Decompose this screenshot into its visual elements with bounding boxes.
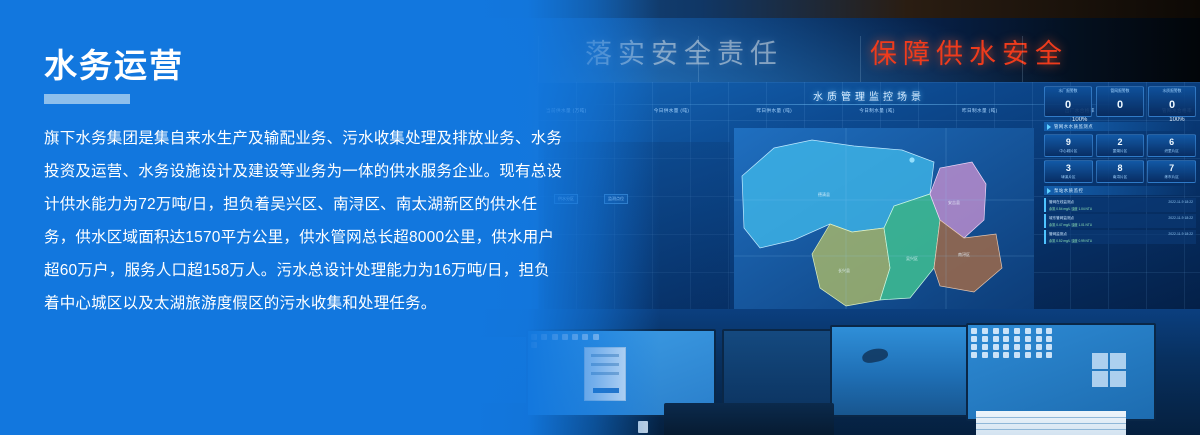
dashboard-right-rail: 水厂报警数 0 管网报警数 0 水质报警数 0 [1044,86,1196,314]
desktop-icon[interactable] [971,352,977,358]
slogan-right: 保障供水安全 [870,32,1068,71]
monitor-point-label: 中心城片区 [1045,149,1092,154]
alarm-card-value: 0 [1117,99,1123,111]
log-row-top: 管网监测点 2022-11-9 18:22 [1049,232,1193,237]
spreadsheet-line [976,417,1126,418]
alarm-card-value: 0 [1065,99,1071,111]
desktop-icon[interactable] [1003,344,1009,350]
map-label-wuxing: 吴兴区 [906,256,918,262]
monitor-underwater [830,325,975,417]
map-label-changxing: 德清县 [818,192,830,198]
diver-silhouette [861,346,889,364]
alarm-card[interactable]: 水质报警数 0 [1148,86,1196,117]
log-row-top: 城东管网监测点 2022-11-9 18:22 [1049,216,1193,221]
log-row-values: 余氯 0.52 mg/L 浊度 0.99 NTU [1049,238,1193,243]
desktop-icon[interactable] [1003,336,1009,342]
desktop-icon[interactable] [1025,344,1031,350]
monitor-panel-header: 管网水水质监测点 [1044,122,1196,131]
desktop-icon[interactable] [1046,344,1052,350]
monitor-point-label: 织里片区 [1148,149,1195,154]
monitor-point-cell[interactable]: 2 菱湖片区 [1096,134,1145,157]
log-row-time: 2022-11-9 18:22 [1168,232,1193,237]
desktop-icon[interactable] [982,336,988,342]
monitor-point-label: 南浔片区 [1097,175,1144,180]
monitor-point-label: 练市片区 [1148,175,1195,180]
monitor-point-label: 菱湖片区 [1097,149,1144,154]
windows-logo-icon [1092,353,1126,387]
monitor-point-cell[interactable]: 8 南浔片区 [1096,160,1145,183]
map-label-nanxun: 南浔区 [958,252,970,258]
log-panel-header: 泵站水质监控 [1044,186,1196,195]
monitor-dark [722,329,832,413]
desktop-icon[interactable] [982,344,988,350]
monitor-point-cell[interactable]: 6 织里片区 [1147,134,1196,157]
alarm-card-row: 水厂报警数 0 管网报警数 0 水质报警数 0 [1044,86,1196,117]
monitor-point-value: 3 [1045,164,1092,173]
desktop-icon[interactable] [971,344,977,350]
alarm-card-label: 水厂报警数 [1045,89,1091,94]
body-paragraph: 旗下水务集团是集自来水生产及输配业务、污水收集处理及排放业务、水务投资及运营、水… [44,122,564,320]
desktop-icon[interactable] [1014,336,1020,342]
spreadsheet-line [976,423,1126,424]
desktop-icon-grid [971,328,1055,358]
desktop-icon[interactable] [971,328,977,334]
desktop-icon[interactable] [1036,336,1042,342]
monitor-point-value: 6 [1148,138,1195,147]
desktop-icon[interactable] [1014,352,1020,358]
monitor-point-cell[interactable]: 7 练市片区 [1147,160,1196,183]
desktop-icon[interactable] [993,344,999,350]
desktop-icon[interactable] [982,352,988,358]
kpi-item: 昨日制水量 (吨) [962,108,998,117]
windows-logo-pane [1092,371,1108,387]
desktop-icon[interactable] [1014,344,1020,350]
log-row[interactable]: 管网在线监测点 2022-11-9 18:22 余氯 0.54 mg/L 浊度 … [1044,198,1196,212]
desktop-icon[interactable] [993,336,999,342]
district-map-svg [734,128,1034,318]
log-list: 管网在线监测点 2022-11-9 18:22 余氯 0.54 mg/L 浊度 … [1044,198,1196,244]
desktop-icon[interactable] [1003,328,1009,334]
desktop-icon[interactable] [971,336,977,342]
desktop-icon[interactable] [993,352,999,358]
monitor-desktop-right [966,323,1156,421]
monitor-point-value: 9 [1045,138,1092,147]
log-panel-title: 泵站水质监控 [1054,188,1083,194]
log-row-time: 2022-11-9 18:22 [1168,216,1193,221]
monitor-point-grid: 9 中心城片区 2 菱湖片区 6 织里片区 3 [1044,134,1196,183]
keyboard[interactable] [664,403,834,435]
water-operations-banner: 落实安全责任 保障供水安全 水质管理监控场景 当前供水量 (万吨) [0,0,1200,435]
monitor-point-value: 8 [1097,164,1144,173]
monitor-point-cell[interactable]: 3 埭溪片区 [1044,160,1093,183]
desktop-icon[interactable] [1025,328,1031,334]
kpi-item: 今日制水量 (吨) [859,108,895,117]
log-row-name: 管网监测点 [1049,232,1067,237]
monitor-point-label: 埭溪片区 [1045,175,1092,180]
desktop-icon[interactable] [1025,352,1031,358]
map-label-deqing: 长兴县 [838,268,850,274]
desktop-icon[interactable] [1036,344,1042,350]
log-row-name: 管网在线监测点 [1049,200,1074,205]
text-content: 水务运营 旗下水务集团是集自来水生产及输配业务、污水收集处理及排放业务、水务投资… [44,48,564,320]
desktop-icon[interactable] [1046,352,1052,358]
map-label-anji: 安吉县 [948,200,960,206]
alarm-card-label: 管网报警数 [1097,89,1143,94]
desktop-icon[interactable] [1046,328,1052,334]
windows-logo-pane [1092,353,1108,369]
log-row[interactable]: 管网监测点 2022-11-9 18:22 余氯 0.52 mg/L 浊度 0.… [1044,230,1196,244]
desktop-icon[interactable] [1036,352,1042,358]
title-underline-rule [44,94,130,104]
kpi-item: 昨日供水量 (吨) [757,108,793,117]
alarm-card[interactable]: 管网报警数 0 [1096,86,1144,117]
alarm-card-value: 0 [1169,99,1175,111]
desktop-icon[interactable] [1036,328,1042,334]
desktop-icon[interactable] [1046,336,1052,342]
monitor-panel-title: 管网水水质监测点 [1054,124,1093,130]
spreadsheet-line [976,429,1126,430]
triangle-icon [1047,124,1051,130]
desktop-icon[interactable] [1003,352,1009,358]
log-row-top: 管网在线监测点 2022-11-9 18:22 [1049,200,1193,205]
alarm-card-label: 水质报警数 [1149,89,1195,94]
district-map: 德清县 安吉县 吴兴区 长兴县 南浔区 [734,128,1034,318]
windows-logo-pane [1110,353,1126,369]
kpi-label: 昨日供水量 (吨) [757,108,793,114]
body-text: 旗下水务集团是集自来水生产及输配业务、污水收集处理及排放业务、水务投资及运营、水… [44,122,564,320]
log-row[interactable]: 城东管网监测点 2022-11-9 18:22 余氯 0.47 mg/L 浊度 … [1044,214,1196,228]
page-title: 水务运营 [44,48,564,84]
log-row-values: 余氯 0.47 mg/L 浊度 1.01 NTU [1049,222,1193,227]
desktop-icon[interactable] [982,328,988,334]
desktop-icon[interactable] [993,328,999,334]
desktop-icon[interactable] [1014,328,1020,334]
monitor-point-cell[interactable]: 9 中心城片区 [1044,134,1093,157]
log-row-values: 余氯 0.54 mg/L 浊度 1.04 NTU [1049,206,1193,211]
kpi-label: 今日制水量 (吨) [859,108,895,114]
log-row-name: 城东管网监测点 [1049,216,1074,221]
kpi-label: 昨日制水量 (吨) [962,108,998,114]
windows-logo-pane [1110,371,1126,387]
spreadsheet-screen [976,411,1126,435]
triangle-icon [1047,188,1051,194]
alarm-card[interactable]: 水厂报警数 0 [1044,86,1092,117]
monitor-point-value: 7 [1148,164,1195,173]
desktop-icon[interactable] [1025,336,1031,342]
monitor-point-value: 2 [1097,138,1144,147]
log-row-time: 2022-11-9 18:22 [1168,200,1193,205]
